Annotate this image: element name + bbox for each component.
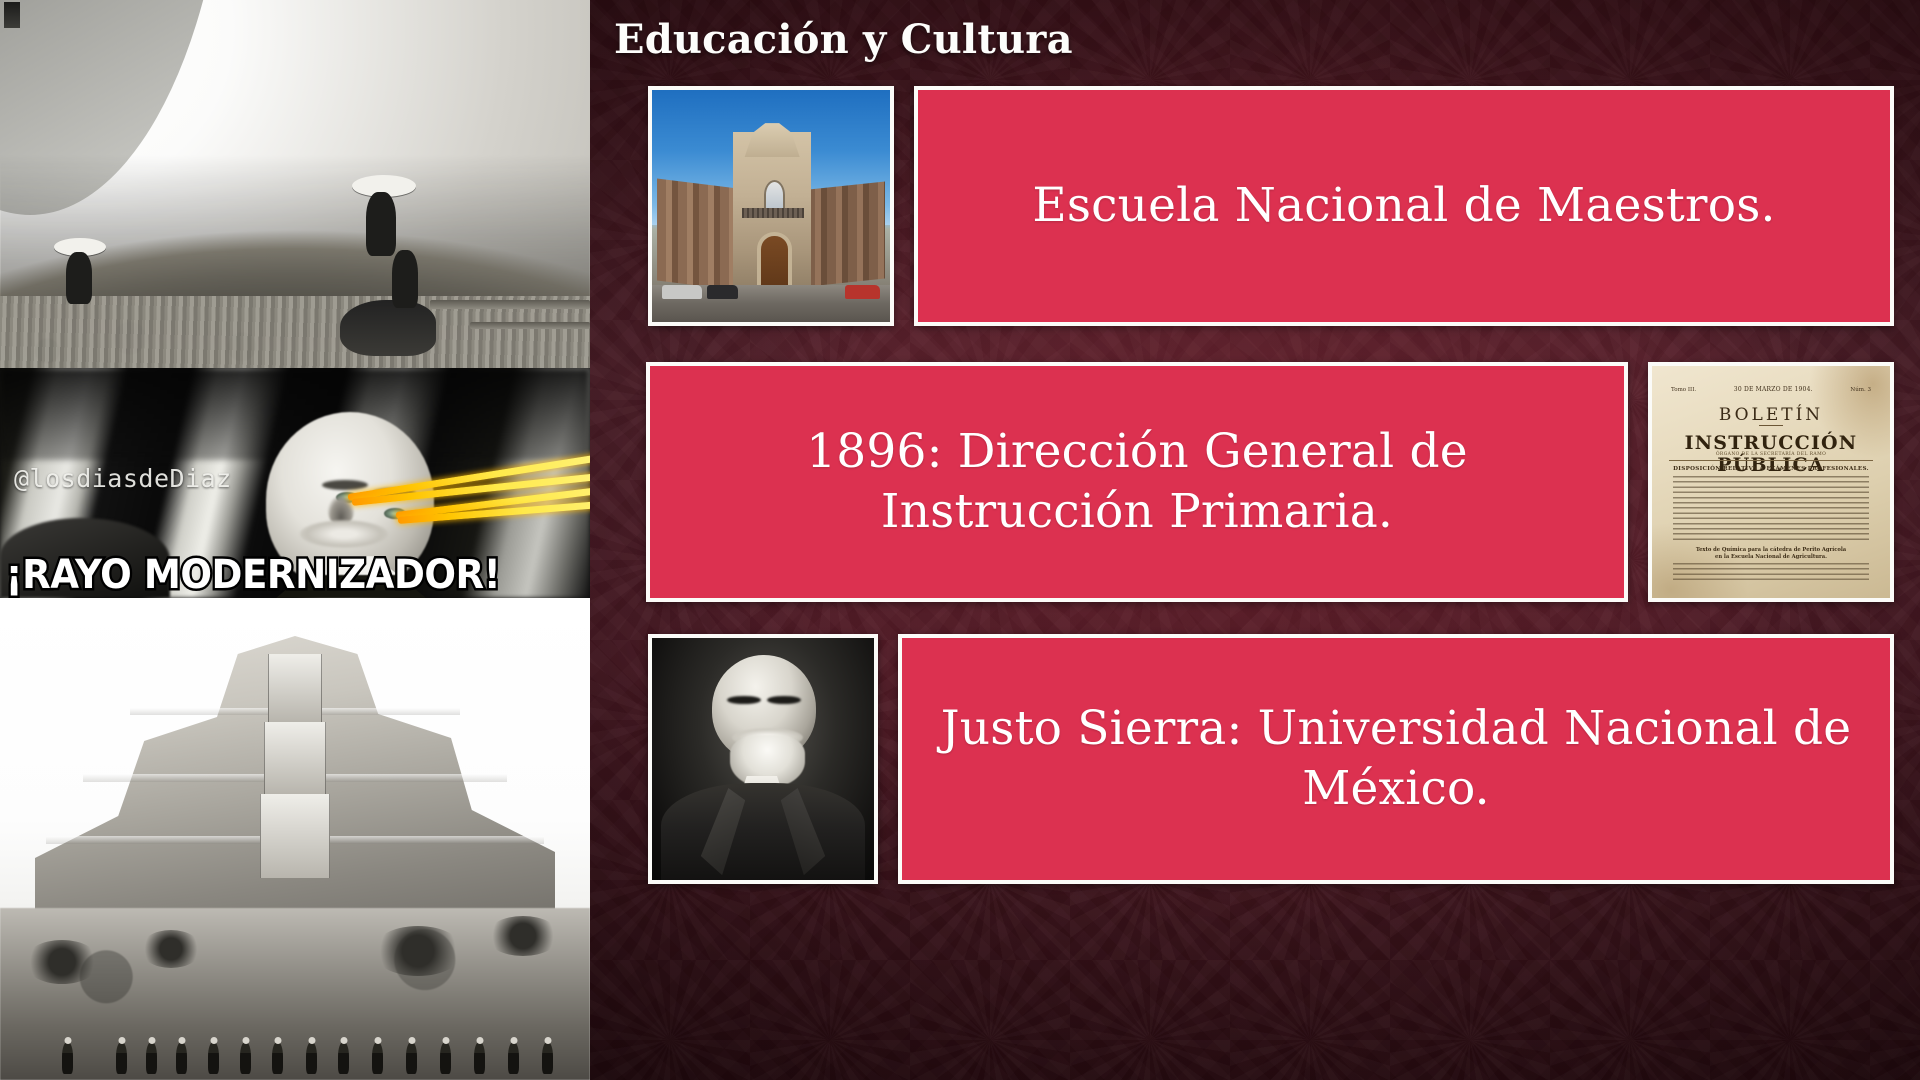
document-number: Núm. 3 <box>1850 387 1871 393</box>
standing-figure-1 <box>366 192 396 256</box>
scrub-bush-2 <box>140 930 202 968</box>
content-row-3: Justo Sierra: Universidad Nacional de Mé… <box>648 634 1894 884</box>
photo-corner-mark <box>4 2 20 28</box>
textbox-label-1: Escuela Nacional de Maestros. <box>1032 176 1775 236</box>
wooden-beam-2 <box>470 322 590 329</box>
document-section-1: DISPOSICIÓN RELATIVA A EXÁMENES PROFESIO… <box>1652 466 1890 472</box>
visitor-2 <box>146 1042 157 1074</box>
visitor-8 <box>338 1042 349 1074</box>
standing-figure-2 <box>66 252 92 304</box>
meme-caption-text: ¡RAYO MODERNIZADOR! <box>0 553 500 597</box>
visitor-13 <box>508 1042 519 1074</box>
balcony-railing <box>742 208 804 217</box>
document-section-2: Texto de Química para la cátedra de Peri… <box>1652 547 1890 561</box>
parked-truck <box>662 285 702 299</box>
parked-car-dark <box>707 285 738 299</box>
scrub-bush-4 <box>486 916 560 956</box>
visitor-11 <box>440 1042 451 1074</box>
document-date: 30 DE MARZO DE 1904. <box>1734 386 1813 393</box>
visitor-7 <box>306 1042 317 1074</box>
document-header-line: Tomo III. 30 DE MARZO DE 1904. Núm. 3 <box>1671 386 1871 393</box>
seated-figure <box>392 250 418 308</box>
boletin-instruccion-publica-document[interactable]: Tomo III. 30 DE MARZO DE 1904. Núm. 3 BO… <box>1648 362 1894 602</box>
visitor-3 <box>176 1042 187 1074</box>
meme-caption-bar: ¡RAYO MODERNIZADOR! <box>0 552 590 598</box>
document-body-text-1 <box>1673 476 1868 541</box>
visitor-5 <box>240 1042 251 1074</box>
porfirio-diaz-laser-eyes-meme: @losdiasdeDiaz ¡RAYO MODERNIZADOR! <box>0 368 590 598</box>
parked-car-red <box>845 285 881 299</box>
document-section-2-line2: en la Escuela Nacional de Agricultura. <box>1652 554 1890 561</box>
visitor-12 <box>474 1042 485 1074</box>
meme-watermark: @losdiasdeDiaz <box>14 464 232 493</box>
visitor-6 <box>272 1042 283 1074</box>
document-organ-line: ÓRGANO DE LA SECRETARÍA DEL RAMO <box>1652 452 1890 457</box>
diaz-mustache <box>300 520 388 548</box>
pyramid-staircase-mid <box>264 722 326 794</box>
pyramid-mound-archival-photo <box>0 0 590 368</box>
textbox-label-2: 1896: Dirección General de Instrucción P… <box>676 422 1598 542</box>
visitor-15 <box>62 1042 73 1074</box>
teotihuacan-pyramid-of-the-sun-photo <box>0 598 590 1080</box>
diaz-brow-left <box>322 480 368 490</box>
document-body-text-2 <box>1673 563 1868 584</box>
sierra-coat <box>661 783 865 880</box>
visitor-4 <box>208 1042 219 1074</box>
scrub-bush-3 <box>372 926 464 976</box>
document-divider <box>1669 460 1874 461</box>
slide-root: @losdiasdeDiaz ¡RAYO MODERNIZADOR! <box>0 0 1920 1080</box>
textbox-direccion-general-instruccion-primaria[interactable]: 1896: Dirección General de Instrucción P… <box>646 362 1628 602</box>
wooden-beam <box>430 300 590 309</box>
page-title: Educación y Cultura <box>614 16 1073 64</box>
textbox-justo-sierra-universidad[interactable]: Justo Sierra: Universidad Nacional de Mé… <box>898 634 1894 884</box>
visitor-1 <box>116 1042 127 1074</box>
content-row-1: Escuela Nacional de Maestros. <box>648 86 1894 326</box>
document-section-2-line1: Texto de Química para la cátedra de Peri… <box>1652 547 1890 554</box>
content-row-2: 1896: Dirección General de Instrucción P… <box>646 362 1894 602</box>
textbox-escuela-nacional-de-maestros[interactable]: Escuela Nacional de Maestros. <box>914 86 1894 326</box>
content-panel: Educación y Cultura <box>590 0 1920 1080</box>
document-rule <box>1759 425 1783 426</box>
scrub-bush-1 <box>24 940 100 984</box>
ox-animal <box>340 300 436 356</box>
justo-sierra-portrait[interactable] <box>648 634 878 884</box>
pyramid-staircase-upper <box>268 654 322 722</box>
visitor-9 <box>372 1042 383 1074</box>
escuela-nacional-de-maestros-building-photo[interactable] <box>648 86 894 326</box>
document-volume: Tomo III. <box>1671 387 1696 393</box>
portrait-illustration <box>652 638 874 880</box>
visitor-14 <box>542 1042 553 1074</box>
arched-window <box>764 180 785 210</box>
document-masthead: BOLETÍN <box>1652 405 1890 425</box>
textbox-label-3: Justo Sierra: Universidad Nacional de Mé… <box>928 699 1864 819</box>
visitor-10 <box>406 1042 417 1074</box>
document-scan: Tomo III. 30 DE MARZO DE 1904. Núm. 3 BO… <box>1652 366 1890 598</box>
building-illustration <box>652 90 890 322</box>
pyramid-staircase-lower <box>260 794 330 878</box>
left-photo-column: @losdiasdeDiaz ¡RAYO MODERNIZADOR! <box>0 0 590 1080</box>
